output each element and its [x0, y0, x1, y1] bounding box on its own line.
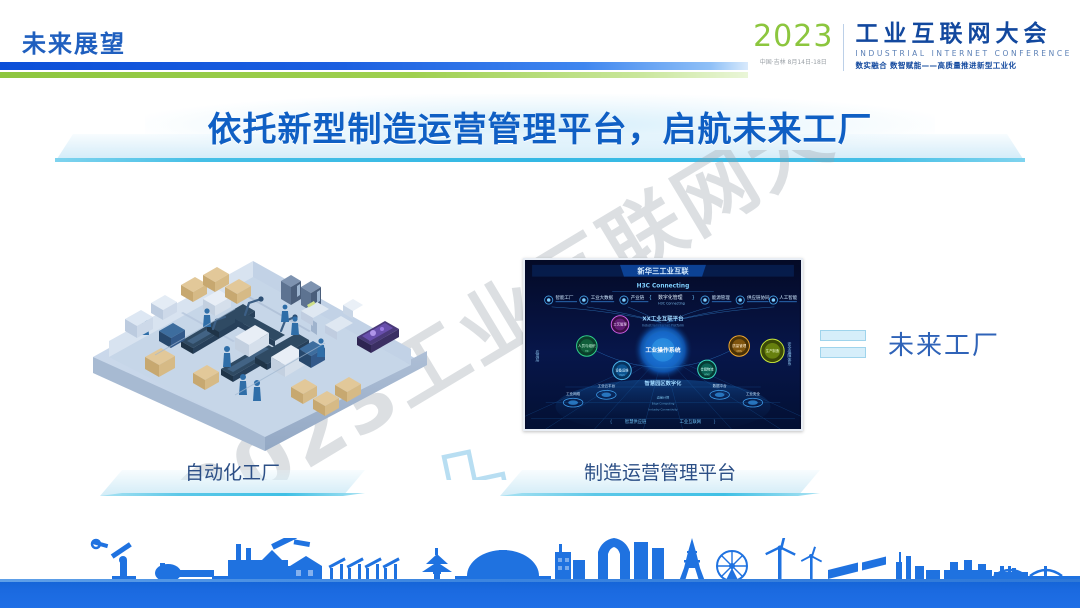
- dashboard-left-tag: 应用层: [535, 349, 540, 362]
- label-plate-mom-platform: 制造运营管理平台: [500, 462, 820, 496]
- logo-english-name: INDUSTRIAL INTERNET CONFERENCE: [855, 49, 1072, 58]
- svg-text:{: {: [649, 295, 651, 301]
- logo-year-block: 2023 中国·吉林 8月14日-18日: [753, 22, 843, 66]
- dashboard-title: 新华三工业互联: [637, 267, 689, 276]
- dashboard-bottom-node-1: 工业云平台: [598, 383, 616, 388]
- logo-slogan: 数实融合 数智赋能——高质量推进新型工业化: [855, 60, 1072, 71]
- page-title: 未来展望: [22, 24, 126, 59]
- dashboard-bottom-node-2: 边缘计算: [657, 395, 669, 400]
- automated-factory-label: 自动化工厂: [100, 458, 365, 485]
- dashboard-bottom-node-0: 工业网络: [566, 391, 580, 396]
- dashboard-footer-tag-0: 智慧供应链: [625, 418, 647, 425]
- dashboard-ring-left-1: 工艺管理: [613, 321, 627, 326]
- svg-text:WMS: WMS: [704, 373, 710, 376]
- title-banner: 依托新型制造运营管理平台，启航未来工厂: [55, 100, 1025, 162]
- dashboard-ring-left-0: 人员与组织: [578, 343, 596, 348]
- dashboard-bottom-node-4: 工业安全: [746, 391, 761, 396]
- automated-factory-illustration: [85, 245, 435, 455]
- dashboard-footer-tag-1: 工业互联网: [680, 418, 701, 425]
- dashboard-module-1: 工业大数据: [591, 294, 614, 301]
- logo-name-block: 工业互联网大会 INDUSTRIAL INTERNET CONFERENCE 数…: [844, 22, 1072, 71]
- dashboard-ring-right-2: 仓储物流: [700, 366, 714, 371]
- mom-platform-label: 制造运营管理平台: [500, 458, 820, 485]
- svg-text:H3C Connecting: H3C Connecting: [658, 301, 685, 305]
- slide-canvas: 未来展望 2023 中国·吉林 8月14日-18日 工业互联网大会 INDUST…: [0, 0, 1080, 608]
- dashboard-module-2: 产业链: [631, 294, 645, 301]
- future-factory-callout: 未来工厂: [820, 325, 1000, 362]
- equals-icon: [820, 330, 866, 358]
- header-divider: [0, 62, 748, 78]
- title-plate-edge: [55, 158, 1025, 162]
- logo-chinese-name: 工业互联网大会: [855, 22, 1072, 47]
- footer: [0, 538, 1080, 608]
- dashboard-module-4: 能源管理: [712, 294, 730, 301]
- dashboard-ring-left-2: 设备运维: [615, 367, 629, 372]
- divider-green-band: [0, 72, 748, 78]
- future-factory-label: 未来工厂: [888, 325, 1000, 362]
- dashboard-subtitle: H3C Connecting: [637, 283, 690, 289]
- manufacturing-platform-dashboard: 新华三工业互联 H3C Connecting 智能工厂 工业大数据 产业链: [523, 258, 803, 431]
- svg-text:Industry Connectivity: Industry Connectivity: [648, 407, 677, 411]
- svg-text:QMS: QMS: [737, 350, 743, 353]
- industrial-skyline-illustration: [0, 538, 1080, 584]
- dashboard-core-label: 工业操作系统: [645, 346, 680, 354]
- plate-edge: [500, 493, 820, 496]
- main-title: 依托新型制造运营管理平台，启航未来工厂: [55, 102, 1025, 151]
- dashboard-module-6: 人工智能: [779, 294, 797, 301]
- header: 未来展望 2023 中国·吉林 8月14日-18日 工业互联网大会 INDUST…: [0, 0, 1080, 80]
- equals-icon-bar-bottom: [820, 347, 866, 358]
- dashboard-module-5: 供应链协同: [747, 294, 770, 301]
- footer-bar: [0, 582, 1080, 608]
- dashboard-ring-right-0: 质量管理: [732, 343, 746, 348]
- divider-blue-band: [0, 62, 748, 70]
- dashboard-lower-band: 智慧园区数字化: [645, 379, 683, 387]
- conference-logo: 2023 中国·吉林 8月14日-18日 工业互联网大会 INDUSTRIAL …: [753, 22, 1072, 71]
- dashboard-bottom-node-3: 数据中台: [713, 383, 728, 388]
- svg-text:EAM: EAM: [620, 374, 625, 377]
- svg-text:}: }: [692, 295, 694, 301]
- dashboard-ring-right-1: 生产制造: [766, 348, 780, 353]
- logo-year: 2023: [753, 22, 833, 52]
- plate-edge: [100, 493, 365, 496]
- dashboard-module-3: 数字化管理: [658, 294, 682, 301]
- dashboard-module-0: 智能工厂: [556, 294, 574, 301]
- label-plate-automated-factory: 自动化工厂: [100, 462, 365, 496]
- logo-date: 中国·吉林 8月14日-18日: [760, 57, 827, 66]
- svg-text:Edge Computing: Edge Computing: [652, 402, 675, 406]
- equals-icon-bar-top: [820, 330, 866, 341]
- dashboard-right-tag: 安全保障体系: [787, 341, 792, 365]
- svg-text:HR: HR: [585, 350, 589, 353]
